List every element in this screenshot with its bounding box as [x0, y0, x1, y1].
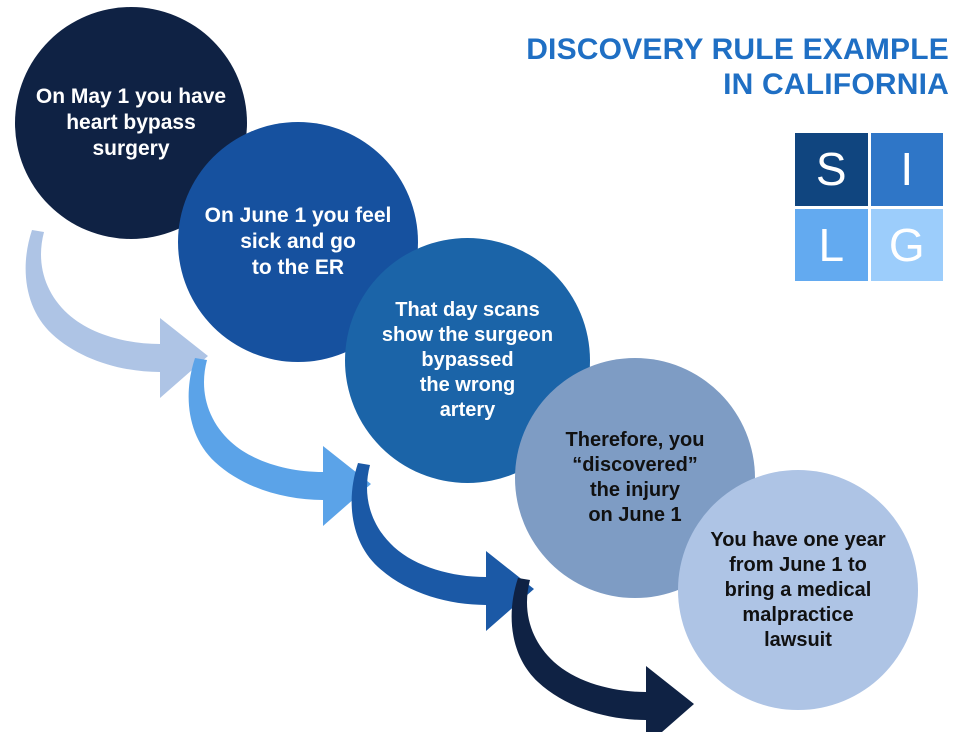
silg-logo: S I L G [795, 133, 943, 281]
infographic-canvas: DISCOVERY RULE EXAMPLE IN CALIFORNIA S I… [0, 0, 961, 732]
logo-letter-i: I [900, 146, 913, 192]
flow-step-circle-5: You have one year from June 1 to bring a… [678, 470, 918, 710]
logo-letter-l: L [818, 222, 844, 268]
logo-cell-s: S [795, 133, 868, 206]
flow-step-label-1: On May 1 you have heart bypass surgery [34, 84, 229, 163]
page-title: DISCOVERY RULE EXAMPLE IN CALIFORNIA [429, 32, 949, 102]
logo-cell-i: I [871, 133, 944, 206]
flow-step-label-5: You have one year from June 1 to bring a… [697, 528, 899, 653]
logo-cell-g: G [871, 209, 944, 282]
flow-step-label-2: On June 1 you feel sick and go to the ER [197, 203, 399, 282]
logo-letter-g: G [889, 222, 925, 268]
logo-letter-s: S [816, 146, 847, 192]
logo-cell-l: L [795, 209, 868, 282]
